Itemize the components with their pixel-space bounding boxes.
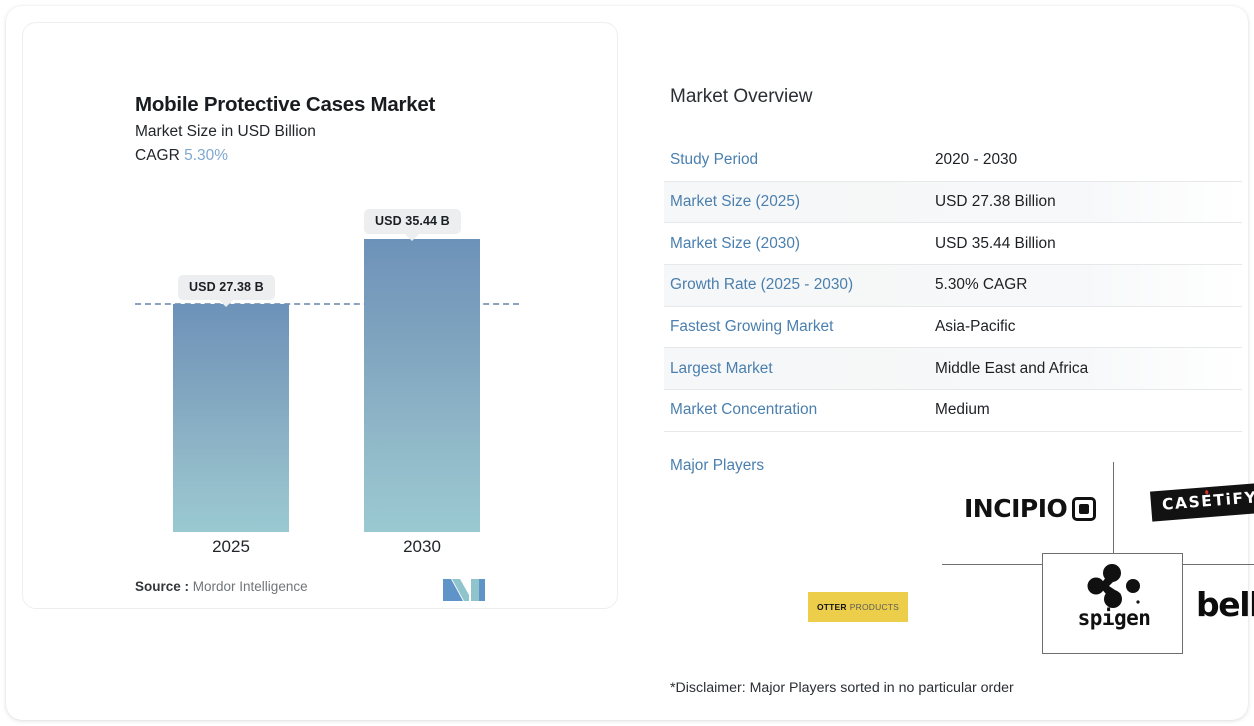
row-value: Middle East and Africa xyxy=(935,360,1088,378)
incipio-square-icon xyxy=(1072,497,1096,521)
belkin-logo: belkin xyxy=(1196,585,1254,624)
row-value: USD 35.44 Billion xyxy=(935,235,1056,253)
source-name: Mordor Intelligence xyxy=(193,579,308,594)
major-players-logo-grid: INCIPIO CASETiFY OTTER PRODUCTS xyxy=(796,452,1254,664)
bar-2030 xyxy=(364,239,480,532)
casetify-logo: CASETiFY xyxy=(1150,482,1254,521)
otter-products-logo: OTTER PRODUCTS xyxy=(808,592,908,622)
table-row: Study Period 2020 - 2030 xyxy=(664,140,1242,182)
bar-chart-plot-area: USD 27.38 B USD 35.44 B 2025 2030 xyxy=(23,23,619,610)
casetify-red-dot-icon xyxy=(1205,490,1209,494)
row-value: Medium xyxy=(935,401,990,419)
value-badge-2025: USD 27.38 B xyxy=(178,275,275,300)
table-row: Fastest Growing Market Asia-Pacific xyxy=(664,307,1242,349)
otter-wordmark-strong: OTTER xyxy=(817,602,847,612)
page-card: Mobile Protective Cases Market Market Si… xyxy=(6,6,1248,720)
x-axis-label-2025: 2025 xyxy=(173,537,289,557)
spigen-mark-icon xyxy=(1079,564,1149,610)
table-row: Market Concentration Medium xyxy=(664,390,1242,432)
incipio-wordmark: INCIPIO xyxy=(964,494,1067,523)
row-value: USD 27.38 Billion xyxy=(935,193,1056,211)
row-key: Market Size (2025) xyxy=(664,193,935,211)
row-value: 2020 - 2030 xyxy=(935,151,1017,169)
row-value: Asia-Pacific xyxy=(935,318,1015,336)
chart-card: Mobile Protective Cases Market Market Si… xyxy=(22,22,618,609)
major-players-label: Major Players xyxy=(670,457,764,475)
row-key: Fastest Growing Market xyxy=(664,318,935,336)
market-overview-panel: Market Overview Study Period 2020 - 2030… xyxy=(656,22,1242,702)
incipio-logo: INCIPIO xyxy=(964,494,1067,523)
table-row: Growth Rate (2025 - 2030) 5.30% CAGR xyxy=(664,265,1242,307)
belkin-wordmark: belkin xyxy=(1196,585,1254,624)
overview-table: Study Period 2020 - 2030 Market Size (20… xyxy=(664,140,1242,432)
source-row: Source : Mordor Intelligence xyxy=(135,579,308,594)
table-row: Market Size (2025) USD 27.38 Billion xyxy=(664,182,1242,224)
row-value: 5.30% CAGR xyxy=(935,276,1027,294)
mordor-intelligence-logo xyxy=(443,575,485,606)
row-key: Market Size (2030) xyxy=(664,235,935,253)
bar-2025 xyxy=(173,304,289,532)
table-row: Largest Market Middle East and Africa xyxy=(664,348,1242,390)
overview-title: Market Overview xyxy=(670,86,813,108)
row-key: Study Period xyxy=(664,151,935,169)
source-label: Source : xyxy=(135,579,189,594)
row-key: Growth Rate (2025 - 2030) xyxy=(664,276,935,294)
table-row: Market Size (2030) USD 35.44 Billion xyxy=(664,223,1242,265)
disclaimer-text: *Disclaimer: Major Players sorted in no … xyxy=(670,680,1014,696)
row-key: Market Concentration xyxy=(664,401,935,419)
value-badge-2030: USD 35.44 B xyxy=(364,209,461,234)
row-key: Largest Market xyxy=(664,360,935,378)
otter-wordmark-rest: PRODUCTS xyxy=(850,602,899,612)
x-axis-label-2030: 2030 xyxy=(364,537,480,557)
spigen-logo: spigen xyxy=(1064,564,1164,630)
